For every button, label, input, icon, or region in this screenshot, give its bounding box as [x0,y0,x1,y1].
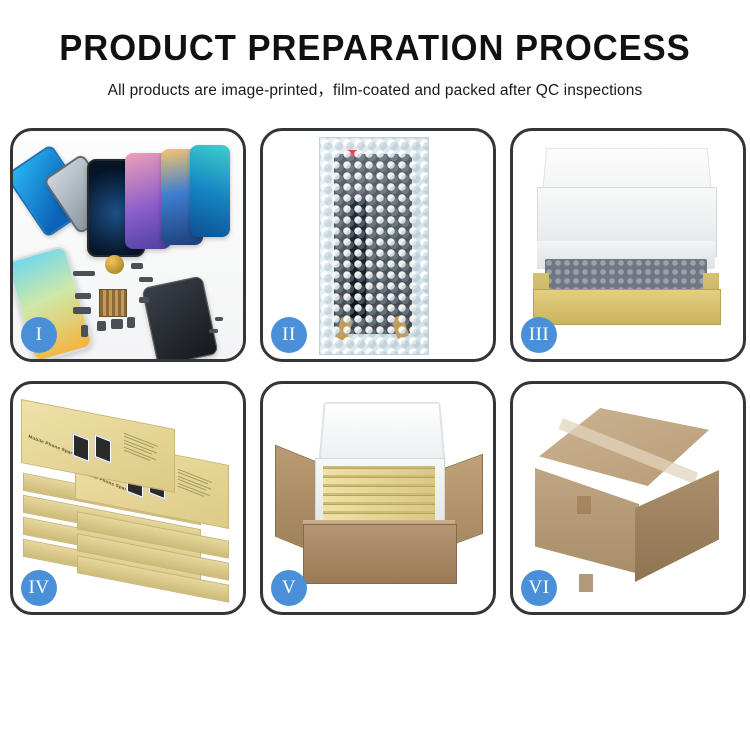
process-step-panel-6[interactable]: VI [510,381,746,615]
phone-teal-icon [190,145,230,237]
process-steps-grid: I II III [0,128,750,615]
box-front-panel-icon [533,289,721,325]
ic-chip-icon [99,289,127,317]
page-subtitle: All products are image-printed，film-coat… [0,78,750,100]
page-header: PRODUCT PREPARATION PROCESS All products… [0,0,750,100]
carton-left-face-icon [535,468,639,574]
step-badge-4: IV [21,570,57,606]
bubble-wrap-bag-icon [319,137,429,355]
step-badge-5: V [271,570,307,606]
step-badge-2: II [271,317,307,353]
process-step-panel-1[interactable]: I [10,128,246,362]
carton-mark-upper-icon [577,496,591,514]
carton-right-face-icon [635,470,719,582]
process-step-panel-4[interactable]: Mobile Phone Spare Parts Mobile Phone Sp… [10,381,246,615]
process-step-panel-3[interactable]: III [510,128,746,362]
step-badge-6: VI [521,570,557,606]
page-title: PRODUCT PREPARATION PROCESS [15,30,735,66]
camera-lens-icon [105,255,124,274]
process-step-panel-2[interactable]: II [260,128,496,362]
step-badge-1: I [21,317,57,353]
carton-mark-lower-icon [579,574,593,592]
process-step-panel-5[interactable]: V [260,381,496,615]
retail-boxes-inside-icon [323,466,435,520]
carton-front-panel-icon [303,524,457,584]
step-badge-3: III [521,317,557,353]
